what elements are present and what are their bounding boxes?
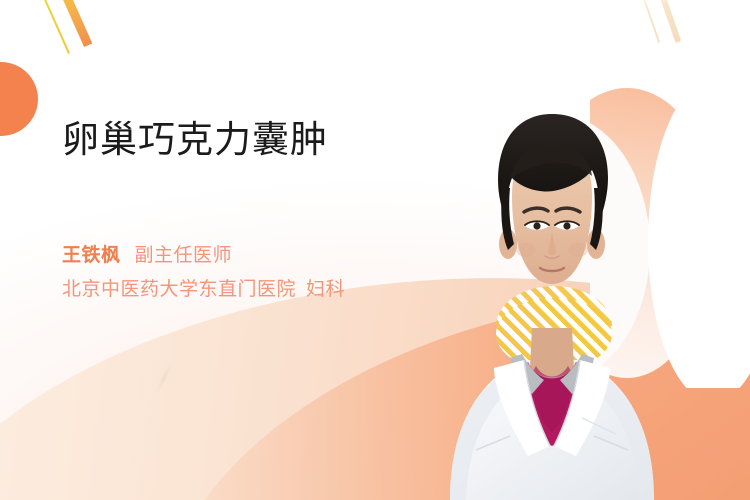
thin-yellow-stroke-icon [38,0,70,54]
doctor-portrait [432,84,672,500]
doctor-affiliation: 北京中医药大学东直门医院 [62,279,296,300]
doctor-affiliation-line: 北京中医药大学东直门医院妇科 [62,280,432,299]
faint-thin-stroke-icon [638,0,660,43]
page-title: 卵巢巧克力囊肿 [62,118,432,162]
thick-orange-stroke-icon [52,0,92,47]
poster-canvas: 卵巢巧克力囊肿 王铁枫副主任医师 北京中医药大学东直门医院妇科 [0,0,750,500]
doctor-byline: 王铁枫副主任医师 [62,246,432,265]
diagonal-strokes-top-left [22,0,112,66]
diagonal-strokes-top-right [632,0,712,64]
doctor-title: 副主任医师 [135,245,233,266]
doctor-department: 妇科 [306,279,345,300]
doctor-name: 王铁枫 [62,245,121,266]
poster-text-block: 卵巢巧克力囊肿 王铁枫副主任医师 北京中医药大学东直门医院妇科 [62,118,432,299]
